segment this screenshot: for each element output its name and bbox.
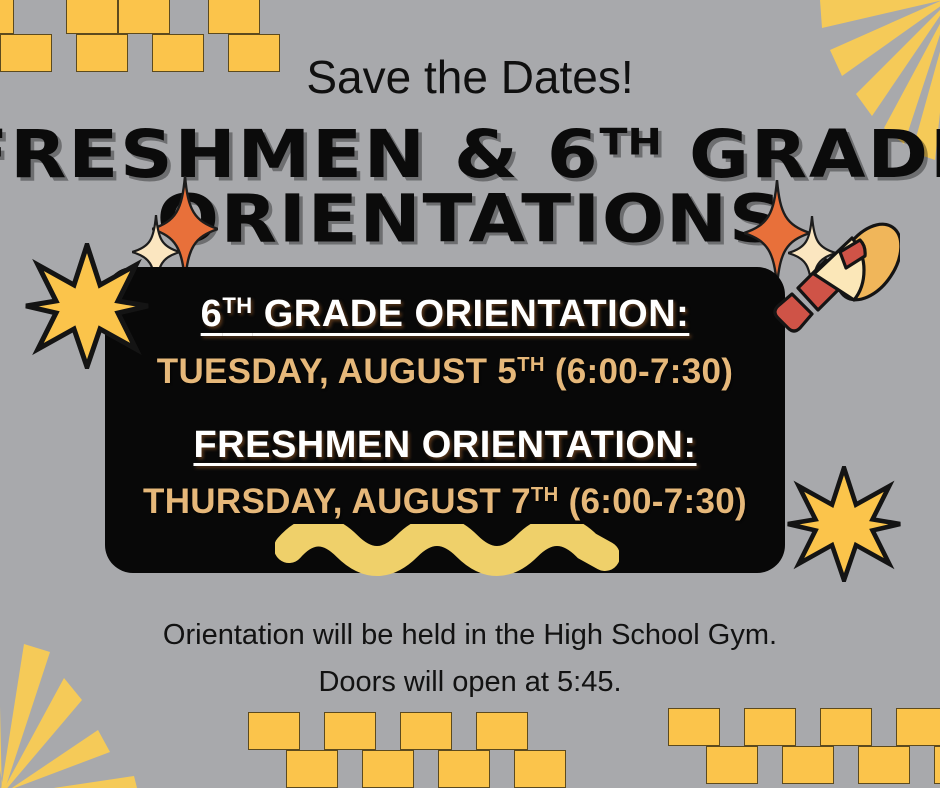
footer-line-2: Doors will open at 5:45. xyxy=(0,659,940,706)
page-title-line-1: FRESHMEN & 6TH GRADE xyxy=(0,109,940,189)
footer-note: Orientation will be held in the High Sch… xyxy=(0,612,940,706)
checker-square xyxy=(514,750,566,788)
checker-square xyxy=(362,750,414,788)
checkerboard-bottom-center xyxy=(248,712,578,788)
checker-square xyxy=(782,746,834,784)
checker-square xyxy=(208,0,260,34)
checker-square xyxy=(66,0,118,34)
megaphone-icon xyxy=(768,216,900,344)
event-heading-6th-grade-pre: 6 xyxy=(201,293,223,335)
event-date-freshmen-post: (6:00-7:30) xyxy=(559,482,747,521)
checkerboard-bottom-right xyxy=(668,708,940,788)
event-spacer xyxy=(105,400,785,414)
checker-square xyxy=(476,712,528,750)
event-date-freshmen-ordinal: TH xyxy=(531,484,559,506)
page-eyebrow-text: Save the Dates! xyxy=(0,50,940,104)
checker-square xyxy=(668,708,720,746)
event-date-freshmen-pre: THURSDAY, AUGUST 7 xyxy=(143,482,531,521)
checker-square xyxy=(400,712,452,750)
event-heading-6th-grade: 6TH GRADE ORIENTATION: xyxy=(105,283,785,337)
event-heading-6th-grade-ordinal: TH xyxy=(222,293,252,318)
checker-square xyxy=(858,746,910,784)
checker-square xyxy=(438,750,490,788)
event-details-list: 6TH GRADE ORIENTATION: TUESDAY, AUGUST 5… xyxy=(105,283,785,530)
star-right-icon xyxy=(786,466,902,582)
wavy-line-icon xyxy=(275,524,619,586)
checker-square xyxy=(0,0,14,34)
event-heading-freshmen-pre: FRESHMEN ORIENTATION: xyxy=(193,423,696,465)
page-title-line-1-ordinal: TH xyxy=(600,121,662,163)
checker-square xyxy=(744,708,796,746)
checker-square xyxy=(118,0,170,34)
event-date-6th-grade: TUESDAY, AUGUST 5TH (6:00-7:30) xyxy=(105,337,785,400)
footer-line-1: Orientation will be held in the High Sch… xyxy=(0,612,940,659)
event-date-6th-grade-pre: TUESDAY, AUGUST 5 xyxy=(157,352,517,391)
checker-square xyxy=(706,746,758,784)
checker-square xyxy=(820,708,872,746)
checker-square xyxy=(934,746,940,784)
star-left-icon xyxy=(24,243,150,369)
event-date-6th-grade-ordinal: TH xyxy=(517,354,545,376)
event-heading-freshmen: FRESHMEN ORIENTATION: xyxy=(105,414,785,468)
event-date-freshmen: THURSDAY, AUGUST 7TH (6:00-7:30) xyxy=(105,467,785,530)
checker-square xyxy=(248,712,300,750)
event-heading-6th-grade-post: GRADE ORIENTATION: xyxy=(253,293,690,335)
checker-square xyxy=(286,750,338,788)
poster-canvas: Save the Dates! FRESHMEN & 6TH GRADE ORI… xyxy=(0,0,940,788)
checker-square xyxy=(896,708,940,746)
checker-square xyxy=(324,712,376,750)
event-date-6th-grade-post: (6:00-7:30) xyxy=(545,352,733,391)
